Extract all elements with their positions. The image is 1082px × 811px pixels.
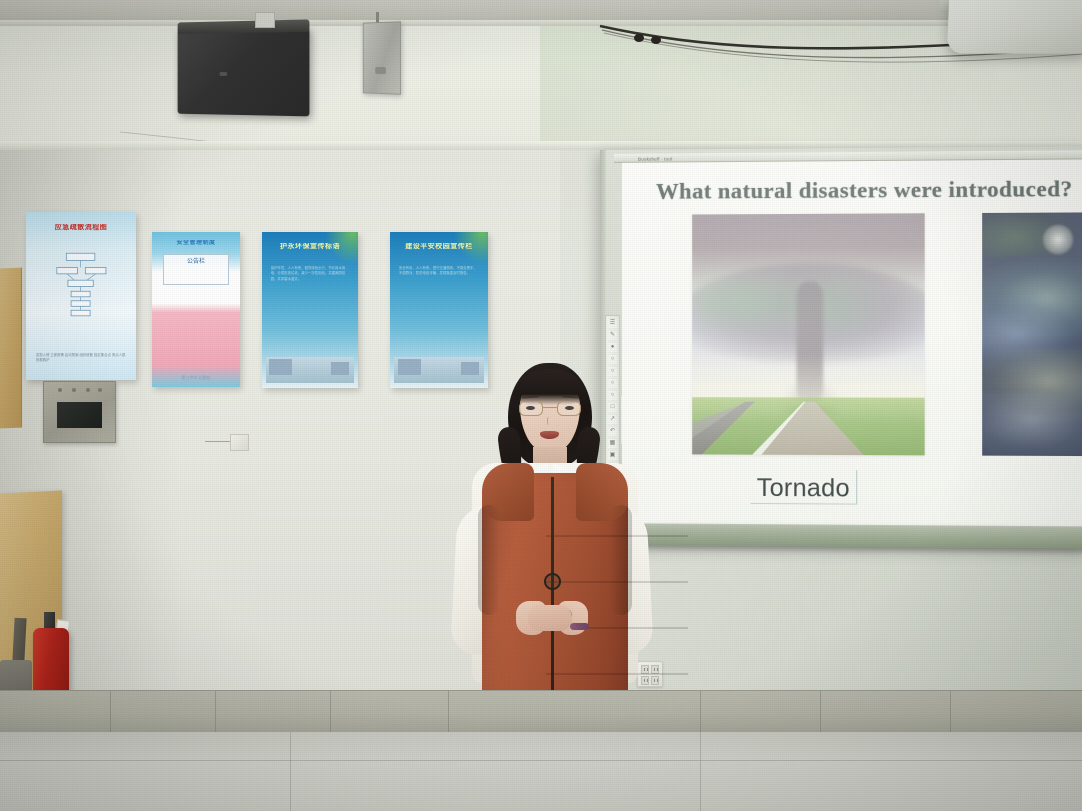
hurricane-satellite-photo — [982, 212, 1082, 456]
baseboard — [0, 690, 1082, 732]
classroom-scene: 应急疏散流程图 发现火情 立即报警 启动预案 组织疏散 指定集合点 清点人数 抢… — [0, 0, 1082, 811]
bracelet — [570, 623, 589, 630]
eyeglasses — [519, 401, 582, 417]
wall-control-panel[interactable] — [43, 381, 116, 443]
wall-switch[interactable] — [230, 434, 249, 451]
wall-mounted-device — [363, 21, 401, 94]
leaning-board — [0, 268, 22, 429]
tornado-photo — [692, 213, 924, 455]
ceiling-projector — [947, 0, 1082, 54]
poster-environment-protection: 护永环保宣传标语 保护环境，人人有责。倡导绿色出行，节约用水用电，分类投放垃圾，… — [262, 232, 358, 388]
slide-caption: Tornado — [757, 474, 850, 504]
speaker-bracket — [255, 12, 275, 28]
nose — [547, 417, 552, 425]
device-button-icon[interactable] — [375, 67, 386, 74]
wall-speaker — [178, 27, 310, 117]
poster-body: 发现火情 立即报警 启动预案 组织疏散 指定集合点 清点人数 抢救救护 — [36, 353, 126, 375]
whiteboard-header-text: Bookshelf · tool — [638, 156, 672, 161]
cityscape-illustration-icon — [266, 357, 354, 384]
poster-emergency-evacuation-flowchart: 应急疏散流程图 发现火情 立即报警 启动预案 组织疏散 指定集合点 清点人数 抢… — [26, 212, 136, 380]
zipper-pull-icon — [544, 573, 561, 590]
poster-caption: 第三中学 后勤处 — [159, 375, 233, 381]
poster-notice-board: 安全管理制度 公告栏 第三中学 后勤处 — [152, 232, 240, 387]
vest-armhole-right — [610, 505, 632, 615]
presentation-slide[interactable]: What natural disasters were introduced? — [622, 159, 1082, 526]
poster-title: 应急疏散流程图 — [35, 224, 127, 242]
poster-body: 保护环境，人人有责。倡导绿色出行，节约用水用电，分类投放垃圾，减少一次性用品。共… — [271, 266, 350, 356]
speaker-logo-icon — [219, 72, 227, 76]
dot-icon[interactable]: ● — [608, 343, 617, 352]
floor — [0, 732, 1082, 811]
hands-clasped — [528, 605, 572, 631]
flowchart-diagram-icon — [41, 246, 120, 333]
panel-screws — [58, 388, 102, 396]
poster-title: 护永环保宣传标语 — [270, 243, 351, 260]
panel-display-window — [57, 402, 102, 428]
poster-title: 建设平安校园宣传栏 — [398, 243, 480, 260]
slide-title: What natural disasters were introduced? — [656, 176, 1073, 205]
switch-wire — [205, 441, 231, 442]
poster-badge: 公告栏 — [163, 254, 230, 285]
poster-body: 安全有序，人人有责。遵守交通规则，不乘坐黑车，不游野泳，防范电信诈骗，发现隐患及… — [399, 266, 479, 356]
menu-icon[interactable]: ☰ — [608, 319, 617, 328]
pen-icon[interactable]: ✎ — [608, 331, 617, 340]
vest-armhole-left — [478, 505, 500, 615]
